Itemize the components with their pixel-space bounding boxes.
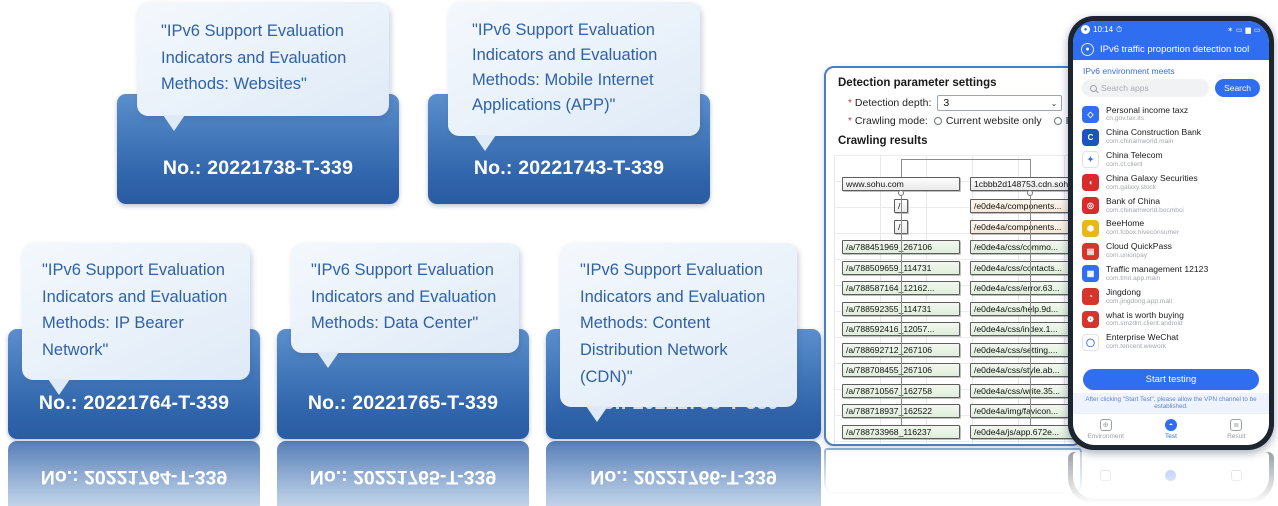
phone-mockup: ● 10:14 ⏱ ✶ ▭ ▆ ▭ ● IPv6 traffic proport… bbox=[1068, 16, 1274, 450]
app-list-item[interactable]: ◖China Galaxy Securitiescom.galaxy.stock bbox=[1082, 171, 1260, 194]
app-list-item[interactable]: ◔Jingdongcom.jingdong.app.mall bbox=[1082, 285, 1260, 308]
tree-connector-left bbox=[901, 159, 902, 177]
app-package: com.smzdm.client.android bbox=[1106, 320, 1184, 328]
app-icon: ◇ bbox=[1082, 106, 1099, 123]
standard-title-bubble: "IPv6 Support Evaluation Indicators and … bbox=[560, 243, 797, 407]
standard-card-data-center[interactable]: No.: 20221765-T-339 "IPv6 Support Evalua… bbox=[277, 243, 529, 439]
detection-depth-label: Detection depth: bbox=[855, 97, 931, 109]
detection-panel: Detection parameter settings * Detection… bbox=[824, 66, 1082, 446]
app-name: Traffic management 12123 bbox=[1106, 265, 1208, 275]
reflection-number: No.: 20221765-T-339 bbox=[277, 465, 529, 488]
speed-icon: ◓ bbox=[1165, 419, 1177, 431]
card-reflection-ip-bearer: No.: 20221764-T-339 bbox=[8, 441, 260, 506]
location-icon: ● bbox=[1081, 25, 1090, 34]
tree-node-right[interactable]: /e0de4a/img/favicon... bbox=[970, 404, 1082, 418]
standard-number: No.: 20221765-T-339 bbox=[277, 392, 529, 415]
phone-status-bar: ● 10:14 ⏱ ✶ ▭ ▆ ▭ bbox=[1073, 21, 1269, 38]
crawling-mode-row: * Crawling mode: Current website only In… bbox=[832, 113, 1082, 129]
tree-node-right[interactable]: /e0de4a/css/write.35... bbox=[970, 384, 1082, 398]
app-package: com.fcbox.hiveconsumer bbox=[1106, 229, 1179, 237]
standard-number: No.: 20221764-T-339 bbox=[8, 392, 260, 415]
radio-icon bbox=[934, 117, 942, 125]
app-package: com.jingdong.app.mall bbox=[1106, 298, 1172, 306]
crawling-mode-option-current[interactable]: Current website only bbox=[934, 115, 1042, 127]
phone-search-row: Search apps Search bbox=[1073, 79, 1269, 103]
tab-label: Result bbox=[1227, 433, 1245, 440]
app-name: Enterprise WeChat bbox=[1106, 333, 1178, 343]
reflection-speed-icon bbox=[1165, 470, 1176, 481]
standard-title-bubble: "IPv6 Support Evaluation Indicators and … bbox=[448, 2, 700, 136]
tree-node-right[interactable]: /e0de4a/css/style.ab... bbox=[970, 363, 1082, 377]
tree-node-right[interactable]: /e0de4a/css/commo... bbox=[970, 240, 1082, 254]
app-icon: C bbox=[1082, 129, 1099, 146]
search-icon bbox=[1090, 85, 1097, 92]
alarm-icon: ⏱ bbox=[1116, 25, 1122, 35]
tree-node-right[interactable]: /e0de4a/css/setting.... bbox=[970, 343, 1082, 357]
tree-connector-right bbox=[1030, 159, 1031, 177]
tree-node-right[interactable]: /e0de4a/css/contacts... bbox=[970, 261, 1082, 275]
phone-reflection bbox=[1068, 452, 1274, 504]
user-icon[interactable]: ● bbox=[1081, 43, 1094, 56]
app-list-item[interactable]: CChina Construction Bankcom.chinamworld.… bbox=[1082, 126, 1260, 149]
app-name: Jingdong bbox=[1106, 288, 1172, 298]
app-list-item[interactable]: ✦China Telecomcom.ct.client bbox=[1082, 149, 1260, 172]
required-asterisk-icon: * bbox=[848, 116, 852, 127]
app-package: cn.gov.tax.its bbox=[1106, 115, 1188, 123]
app-name: China Construction Bank bbox=[1106, 128, 1201, 138]
app-icon: ◎ bbox=[1082, 197, 1099, 214]
phone-app-bar: ● IPv6 traffic proportion detection tool bbox=[1073, 38, 1269, 60]
reflection-globe-icon bbox=[1100, 470, 1111, 481]
standard-card-mobile-app[interactable]: No.: 20221743-T-339 "IPv6 Support Evalua… bbox=[428, 2, 710, 204]
tree-root-node-right[interactable]: 1cbbb2d148753.cdn.sohucs.co bbox=[970, 177, 1082, 191]
app-list-item[interactable]: ▦Traffic management 12123com.tmri.app.ma… bbox=[1082, 262, 1260, 285]
crawling-mode-label: Crawling mode: bbox=[855, 115, 928, 127]
radio-icon bbox=[1054, 117, 1062, 125]
search-button[interactable]: Search bbox=[1215, 79, 1260, 97]
standard-card-ip-bearer-network[interactable]: No.: 20221764-T-339 "IPv6 Support Evalua… bbox=[8, 243, 260, 439]
tree-node-right[interactable]: /e0de4a/js/app.672e... bbox=[970, 425, 1082, 439]
search-placeholder: Search apps bbox=[1101, 83, 1149, 93]
app-package: com.ct.client bbox=[1106, 161, 1163, 169]
phone-app-title: IPv6 traffic proportion detection tool bbox=[1100, 44, 1249, 55]
app-package: com.tmri.app.main bbox=[1106, 275, 1208, 283]
detection-settings-heading: Detection parameter settings bbox=[832, 71, 1082, 93]
app-package: com.chinamworld.main bbox=[1106, 138, 1201, 146]
app-icon: ◖ bbox=[1082, 174, 1099, 191]
app-name: China Galaxy Securities bbox=[1106, 174, 1198, 184]
status-time: 10:14 bbox=[1093, 25, 1113, 34]
app-name: Personal income taxz bbox=[1106, 106, 1188, 116]
tree-node-right[interactable]: /e0de4a/css/index.1... bbox=[970, 322, 1082, 336]
document-icon: ≣ bbox=[1230, 419, 1242, 431]
app-list-item[interactable]: ◯Enterprise WeChatcom.tencent.wework bbox=[1082, 331, 1260, 354]
app-icon: ✦ bbox=[1082, 151, 1099, 168]
tree-connector-horizontal bbox=[901, 159, 1030, 160]
screenshot-root: No.: 20221764-T-339 No.: 20221765-T-339 … bbox=[0, 0, 1278, 506]
tree-spine-right bbox=[1030, 196, 1031, 427]
app-name: Cloud QuickPass bbox=[1106, 242, 1172, 252]
app-name: China Telecom bbox=[1106, 151, 1163, 161]
app-list-item[interactable]: ⬢BeeHomecom.fcbox.hiveconsumer bbox=[1082, 217, 1260, 240]
detection-depth-row: * Detection depth: 3 ⌄ bbox=[832, 93, 1082, 113]
tree-node-right[interactable]: /e0de4a/css/help.9d... bbox=[970, 302, 1082, 316]
globe-icon: ⊕ bbox=[1100, 419, 1112, 431]
app-package: com.chinamworld.bocmbci bbox=[1106, 207, 1184, 215]
tab-label: Environment bbox=[1087, 433, 1124, 440]
reflection-document-icon bbox=[1231, 470, 1242, 481]
crawling-results-tree[interactable]: www.sohu.com1cbbb2d148753.cdn.sohucs.co/… bbox=[834, 155, 1082, 445]
standard-number: No.: 20221738-T-339 bbox=[117, 157, 399, 180]
app-icon: ◔ bbox=[1082, 288, 1099, 305]
start-testing-button[interactable]: Start testing bbox=[1083, 369, 1259, 390]
tree-root-node-left[interactable]: www.sohu.com bbox=[842, 177, 960, 191]
app-name: BeeHome bbox=[1106, 219, 1179, 229]
app-list-item[interactable]: ❁what is worth buyingcom.smzdm.client.an… bbox=[1082, 308, 1260, 331]
app-package: com.galaxy.stock bbox=[1106, 184, 1198, 192]
standard-card-cdn[interactable]: No.: 20221766-T-339 "IPv6 Support Evalua… bbox=[546, 243, 821, 439]
standard-title-bubble: "IPv6 Support Evaluation Indicators and … bbox=[22, 243, 250, 380]
phone-tab-bar: ⊕Environment◓Test≣Result bbox=[1073, 413, 1269, 445]
app-icon: ⬢ bbox=[1082, 220, 1099, 237]
tree-node-right[interactable]: /e0de4a/components... bbox=[970, 220, 1082, 234]
app-list-item[interactable]: ◎Bank of Chinacom.chinamworld.bocmbci bbox=[1082, 194, 1260, 217]
standard-title-bubble: "IPv6 Support Evaluation Indicators and … bbox=[137, 2, 389, 116]
card-reflection-data-center: No.: 20221765-T-339 bbox=[277, 441, 529, 506]
tree-node-right[interactable]: /e0de4a/css/error.63... bbox=[970, 281, 1082, 295]
tree-node-right[interactable]: /e0de4a/components... bbox=[970, 199, 1082, 213]
phone-app-list[interactable]: ◇Personal income taxzcn.gov.tax.itsCChin… bbox=[1073, 103, 1269, 365]
tab-test[interactable]: ◓Test bbox=[1138, 414, 1203, 445]
standard-card-websites[interactable]: No.: 20221738-T-339 "IPv6 Support Evalua… bbox=[117, 2, 399, 204]
app-icon: ◯ bbox=[1082, 334, 1099, 351]
ipv6-environment-note: IPv6 environment meets bbox=[1073, 60, 1269, 79]
app-icon: ▦ bbox=[1082, 265, 1099, 282]
card-reflection-cdn: No.: 20221766-T-339 bbox=[546, 441, 821, 506]
standard-number: No.: 20221743-T-339 bbox=[428, 157, 710, 180]
app-list-item[interactable]: ▤Cloud QuickPasscom.unionpay bbox=[1082, 240, 1260, 263]
detection-depth-value: 3 bbox=[943, 97, 949, 109]
crawling-results-heading: Crawling results bbox=[832, 129, 1082, 151]
app-list-item[interactable]: ◇Personal income taxzcn.gov.tax.its bbox=[1082, 103, 1260, 126]
tab-environment[interactable]: ⊕Environment bbox=[1073, 414, 1138, 445]
vpn-channel-note: After clicking "Start Test", please allo… bbox=[1073, 393, 1269, 413]
search-input[interactable]: Search apps bbox=[1082, 79, 1209, 97]
app-icon: ▤ bbox=[1082, 243, 1099, 260]
reflection-number: No.: 20221764-T-339 bbox=[8, 465, 260, 488]
reflection-number: No.: 20221766-T-339 bbox=[546, 465, 821, 488]
crawling-mode-option-1-label: Current website only bbox=[946, 115, 1042, 127]
app-icon: ❁ bbox=[1082, 311, 1099, 328]
tree-spine-left bbox=[901, 196, 902, 427]
app-package: com.tencent.wework bbox=[1106, 343, 1178, 351]
detection-depth-select[interactable]: 3 ⌄ bbox=[937, 95, 1062, 111]
tab-label: Test bbox=[1165, 433, 1177, 440]
standard-title-bubble: "IPv6 Support Evaluation Indicators and … bbox=[291, 243, 519, 353]
chevron-down-icon: ⌄ bbox=[1051, 99, 1058, 108]
tab-result[interactable]: ≣Result bbox=[1204, 414, 1269, 445]
required-asterisk-icon: * bbox=[848, 98, 852, 109]
phone-screen: ● 10:14 ⏱ ✶ ▭ ▆ ▭ ● IPv6 traffic proport… bbox=[1073, 21, 1269, 445]
tree-node-left[interactable]: /a/788733968_116237 bbox=[842, 425, 960, 439]
app-name: what is worth buying bbox=[1106, 311, 1184, 321]
detection-panel-reflection bbox=[824, 448, 1082, 494]
status-right-icons: ✶ ▭ ▆ ▭ bbox=[1227, 26, 1261, 34]
app-package: com.unionpay bbox=[1106, 252, 1172, 260]
app-name: Bank of China bbox=[1106, 197, 1184, 207]
